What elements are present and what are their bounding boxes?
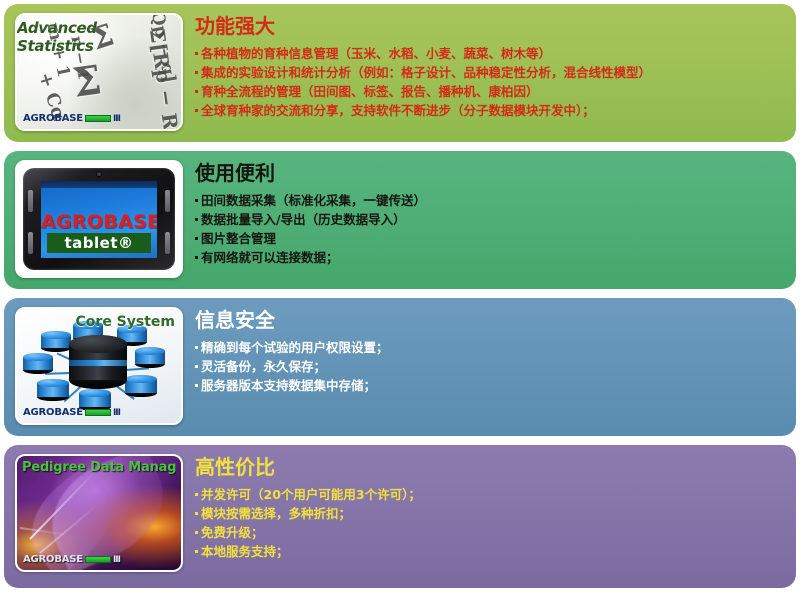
panel-content-information-security: 信息安全 精确到每个试验的用户权限设置； 灵活备份，永久保存； 服务器版本支持数… <box>183 298 796 395</box>
panel-information-security: Core System AGROBASE III 信息安全 精确到每个试验的用户… <box>4 298 796 436</box>
bullet-text: 数据批量导入/导出（历史数据导入） <box>201 210 786 229</box>
bullet-text: 全球育种家的交流和分享，支持软件不断进步（分子数据模块开发中）； <box>201 101 786 120</box>
bullet-dot-icon <box>195 90 198 93</box>
bullet-dot-icon <box>195 218 198 221</box>
bullet-text: 免费升级； <box>201 523 786 542</box>
bullet-text: 并发许可（20个用户可能用3个许可）； <box>201 485 786 504</box>
panel-cost-performance: Pedigree Data Management AGROBASE III 高性… <box>4 445 796 588</box>
agrobase-logo: AGROBASE III <box>23 113 120 124</box>
thumbnail-core-system: Core System AGROBASE III <box>15 307 183 425</box>
panel-heading-advanced-statistics: 功能强大 <box>195 13 786 39</box>
panel-content-advanced-statistics: 功能强大 各种植物的育种信息管理（玉米、水稻、小麦、蔬菜、树木等） 集成的实验设… <box>183 4 796 120</box>
db-node-satellite <box>41 331 71 352</box>
bullet-item: 各种植物的育种信息管理（玉米、水稻、小麦、蔬菜、树木等） <box>195 44 786 63</box>
panel-ease-of-use: AGROBASE tablet® 使用便利 田间数据采集（标准化采集，一键传送）… <box>4 151 796 289</box>
bullet-text: 模块按需选择，多种折扣； <box>201 504 786 523</box>
tablet-side-button <box>165 190 170 212</box>
tablet-brand-text: AGROBASE <box>41 211 157 233</box>
db-node-core-hub <box>69 335 127 389</box>
bullet-dot-icon <box>195 52 198 55</box>
agrobase-logo-bar <box>85 115 111 122</box>
bullet-text: 各种植物的育种信息管理（玉米、水稻、小麦、蔬菜、树木等） <box>201 44 786 63</box>
tablet-side-button <box>165 232 170 254</box>
tablet-status-bar <box>41 181 157 188</box>
tablet-sub-text: tablet® <box>47 233 151 253</box>
bullet-item: 精确到每个试验的用户权限设置； <box>195 338 786 357</box>
bullet-dot-icon <box>195 109 198 112</box>
bullet-item: 模块按需选择，多种折扣； <box>195 504 786 523</box>
thumbnail-agrobase-tablet: AGROBASE tablet® <box>15 160 183 278</box>
bullet-list-cost-performance: 并发许可（20个用户可能用3个许可）； 模块按需选择，多种折扣； 免费升级； 本… <box>195 485 786 561</box>
thumbnail-pedigree-data-management: Pedigree Data Management AGROBASE III <box>15 454 183 572</box>
bullet-dot-icon <box>195 512 198 515</box>
bullet-text: 本地服务支持； <box>201 542 786 561</box>
bullet-item: 全球育种家的交流和分享，支持软件不断进步（分子数据模块开发中）； <box>195 101 786 120</box>
agrobase-logo-version: III <box>113 114 120 124</box>
bullet-dot-icon <box>195 199 198 202</box>
bullet-item: 灵活备份，永久保存； <box>195 357 786 376</box>
thumbnail-advanced-statistics: Σ [Qp − q] m + 1 n − 1 Σ Σ[Rp − R] + Cα … <box>15 13 183 131</box>
thumbnail-title-advanced-statistics: Advanced Statistics <box>17 19 176 55</box>
agrobase-logo-word: AGROBASE <box>23 113 83 124</box>
agrobase-logo: AGROBASE III <box>23 554 120 565</box>
bullet-item: 免费升级； <box>195 523 786 542</box>
agrobase-logo: AGROBASE III <box>23 407 120 418</box>
panel-content-cost-performance: 高性价比 并发许可（20个用户可能用3个许可）； 模块按需选择，多种折扣； 免费… <box>183 445 796 561</box>
thumbnail-title-pedigree: Pedigree Data Management <box>22 460 176 475</box>
bullet-item: 数据批量导入/导出（历史数据导入） <box>195 210 786 229</box>
bullet-item: 有网络就可以连接数据； <box>195 248 786 267</box>
tablet-side-button <box>28 232 33 254</box>
panel-advanced-statistics: Σ [Qp − q] m + 1 n − 1 Σ Σ[Rp − R] + Cα … <box>4 4 796 142</box>
db-node-satellite <box>135 347 165 368</box>
agrobase-logo-bar <box>85 409 111 416</box>
bullet-text: 图片整合管理 <box>201 229 786 248</box>
tablet-image: AGROBASE tablet® <box>17 162 181 276</box>
bullet-dot-icon <box>195 384 198 387</box>
db-node-satellite <box>37 379 69 401</box>
bullet-item: 本地服务支持； <box>195 542 786 561</box>
bullet-text: 精确到每个试验的用户权限设置； <box>201 338 786 357</box>
db-node-satellite <box>23 353 53 374</box>
tablet-side-button <box>28 190 33 212</box>
formula-glyph-sigma-big: Σ <box>70 57 105 107</box>
agrobase-logo-word: AGROBASE <box>23 554 83 565</box>
panel-heading-information-security: 信息安全 <box>195 307 786 333</box>
bullet-dot-icon <box>195 365 198 368</box>
panel-content-ease-of-use: 使用便利 田间数据采集（标准化采集，一键传送） 数据批量导入/导出（历史数据导入… <box>183 151 796 267</box>
bullet-text: 育种全流程的管理（田间图、标签、报告、播种机、康柏因） <box>201 82 786 101</box>
bullet-text: 灵活备份，永久保存； <box>201 357 786 376</box>
bullet-list-advanced-statistics: 各种植物的育种信息管理（玉米、水稻、小麦、蔬菜、树木等） 集成的实验设计和统计分… <box>195 44 786 120</box>
panel-heading-cost-performance: 高性价比 <box>195 454 786 480</box>
bullet-text: 田间数据采集（标准化采集，一键传送） <box>201 191 786 210</box>
bullet-dot-icon <box>195 237 198 240</box>
panel-heading-ease-of-use: 使用便利 <box>195 160 786 186</box>
bullet-dot-icon <box>195 531 198 534</box>
bullet-item: 田间数据采集（标准化采集，一键传送） <box>195 191 786 210</box>
bullet-text: 集成的实验设计和统计分析（例如：格子设计、品种稳定性分析，混合线性模型） <box>201 63 786 82</box>
agrobase-logo-version: III <box>113 555 120 565</box>
bullet-item: 并发许可（20个用户可能用3个许可）； <box>195 485 786 504</box>
db-node-satellite <box>125 375 157 397</box>
tablet-body: AGROBASE tablet® <box>23 168 175 270</box>
agrobase-logo-version: III <box>113 408 120 418</box>
bullet-dot-icon <box>195 346 198 349</box>
bullet-text: 有网络就可以连接数据； <box>201 248 786 267</box>
agrobase-logo-word: AGROBASE <box>23 407 83 418</box>
bullet-item: 集成的实验设计和统计分析（例如：格子设计、品种稳定性分析，混合线性模型） <box>195 63 786 82</box>
feature-panels-page: Σ [Qp − q] m + 1 n − 1 Σ Σ[Rp − R] + Cα … <box>0 0 800 592</box>
bullet-list-ease-of-use: 田间数据采集（标准化采集，一键传送） 数据批量导入/导出（历史数据导入） 图片整… <box>195 191 786 267</box>
bullet-item: 服务器版本支持数据集中存储； <box>195 376 786 395</box>
agrobase-logo-bar <box>85 556 111 563</box>
bullet-dot-icon <box>195 256 198 259</box>
bullet-list-information-security: 精确到每个试验的用户权限设置； 灵活备份，永久保存； 服务器版本支持数据集中存储… <box>195 338 786 395</box>
thumbnail-title-core-system: Core System <box>76 314 175 330</box>
bullet-text: 服务器版本支持数据集中存储； <box>201 376 786 395</box>
bullet-dot-icon <box>195 71 198 74</box>
bullet-dot-icon <box>195 493 198 496</box>
bullet-item: 育种全流程的管理（田间图、标签、报告、播种机、康柏因） <box>195 82 786 101</box>
bullet-item: 图片整合管理 <box>195 229 786 248</box>
tablet-screen: AGROBASE tablet® <box>41 181 157 258</box>
tablet-camera-icon <box>97 172 101 176</box>
bullet-dot-icon <box>195 550 198 553</box>
